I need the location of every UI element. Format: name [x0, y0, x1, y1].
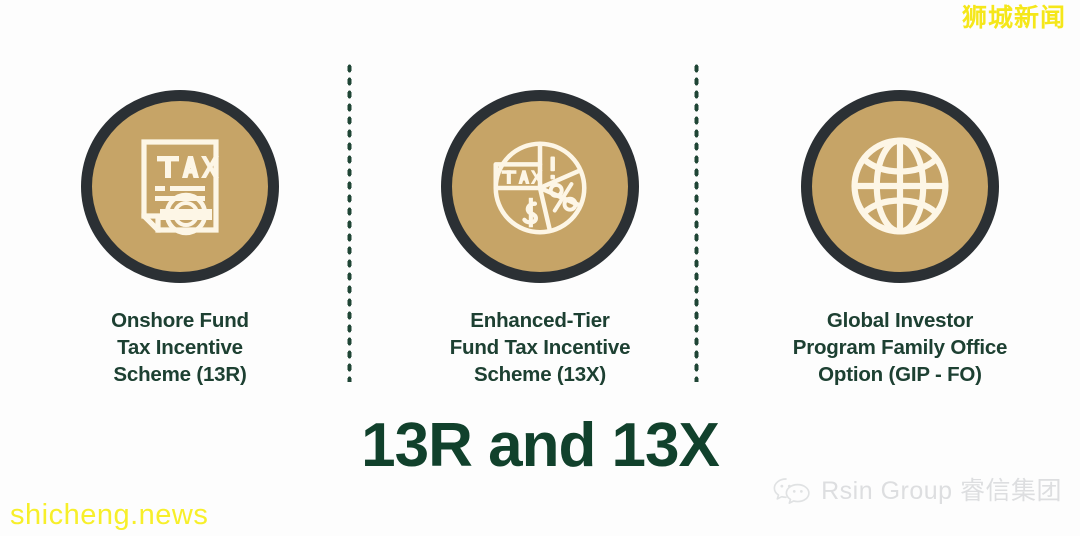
tax-word-small [502, 171, 543, 185]
tax-word [157, 156, 219, 178]
caption-13x: Enhanced-Tier Fund Tax Incentive Scheme … [450, 307, 631, 388]
scheme-card-gip-fo[interactable]: Global Investor Program Family Office Op… [720, 58, 1080, 388]
scheme-cards-row: Onshore Fund Tax Incentive Scheme (13R) [0, 58, 1080, 388]
icon-badge-13r [81, 90, 279, 283]
globe-icon [842, 128, 958, 244]
wechat-icon [772, 476, 812, 506]
caption-13r: Onshore Fund Tax Incentive Scheme (13R) [111, 307, 249, 388]
brand-lockup[interactable]: Rsin Group 睿信集团 [772, 476, 1062, 506]
tax-document-icon [124, 130, 236, 242]
dollar-symbol [524, 198, 535, 228]
percent-symbol [551, 184, 576, 211]
infographic-canvas: 狮城新闻 [0, 0, 1080, 536]
brand-name: Rsin Group 睿信集团 [821, 479, 1062, 504]
icon-badge-gip-fo [801, 90, 999, 283]
caption-gip-fo: Global Investor Program Family Office Op… [793, 307, 1008, 388]
icon-badge-13x [441, 90, 639, 283]
watermark-bottom-left: shicheng.news [10, 501, 208, 530]
scheme-card-13r[interactable]: Onshore Fund Tax Incentive Scheme (13R) [0, 58, 360, 388]
tax-pie-chart-icon [481, 127, 599, 245]
exclamation-symbol [550, 157, 555, 180]
watermark-top-right: 狮城新闻 [962, 6, 1066, 31]
dotted-divider-2 [693, 62, 700, 382]
dotted-divider-1 [346, 62, 353, 382]
page-title: 13R and 13X [0, 415, 1080, 477]
scheme-card-13x[interactable]: Enhanced-Tier Fund Tax Incentive Scheme … [360, 58, 720, 388]
